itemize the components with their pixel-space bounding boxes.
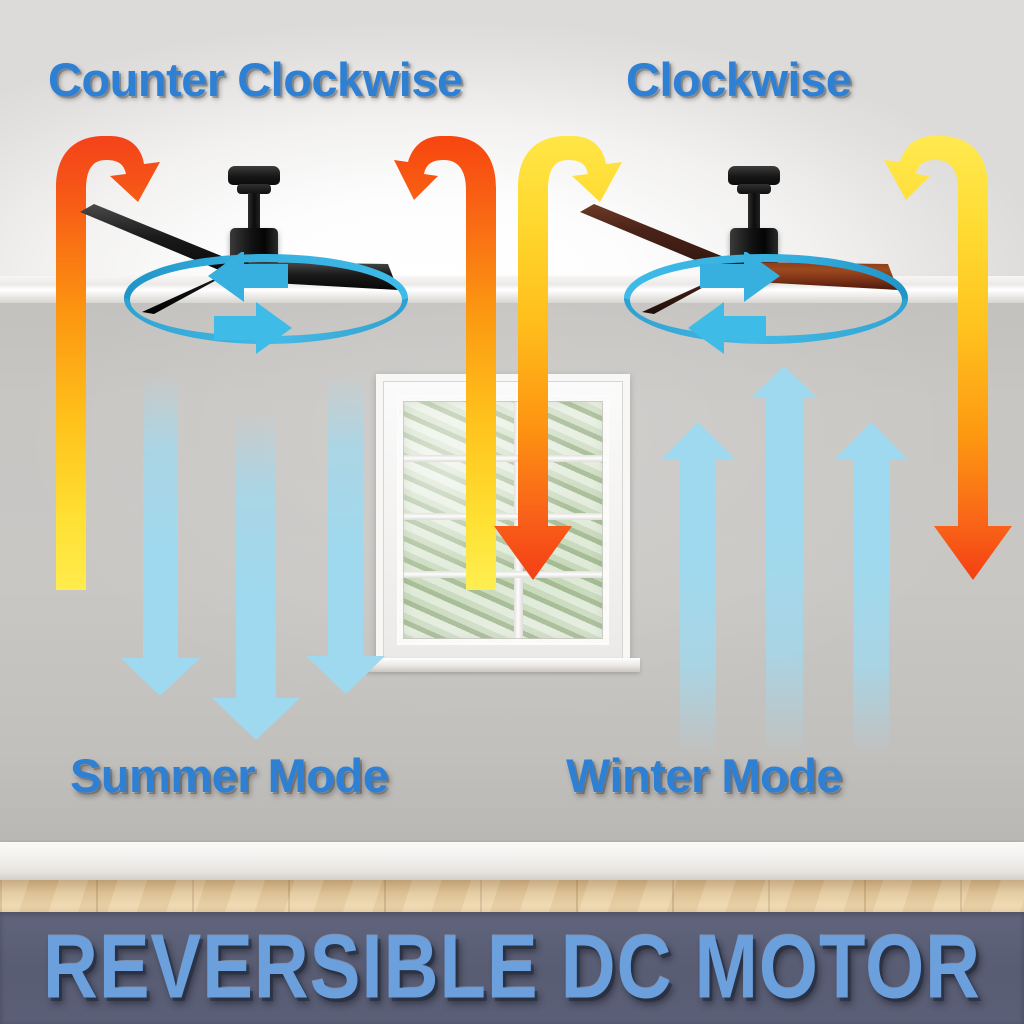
label-winter-mode: Winter Mode	[566, 748, 842, 803]
label-summer-mode: Summer Mode	[70, 748, 388, 803]
window-icon	[376, 374, 630, 666]
infographic-canvas: Counter Clockwise Clockwise Summer Mode …	[0, 0, 1024, 1024]
heading-counter-clockwise: Counter Clockwise	[48, 52, 463, 107]
window-sill	[366, 658, 640, 672]
banner-title: REVERSIBLE DC MOTOR	[43, 923, 981, 1013]
window-glass	[399, 397, 607, 643]
fan-canopy	[728, 166, 780, 185]
window-sash	[397, 395, 609, 645]
fan-canopy	[228, 166, 280, 185]
bottom-banner: REVERSIBLE DC MOTOR	[0, 912, 1024, 1024]
fan-blades	[580, 190, 980, 320]
baseboard-trim	[0, 842, 1024, 880]
heading-clockwise: Clockwise	[626, 52, 851, 107]
fan-blades	[80, 190, 480, 320]
